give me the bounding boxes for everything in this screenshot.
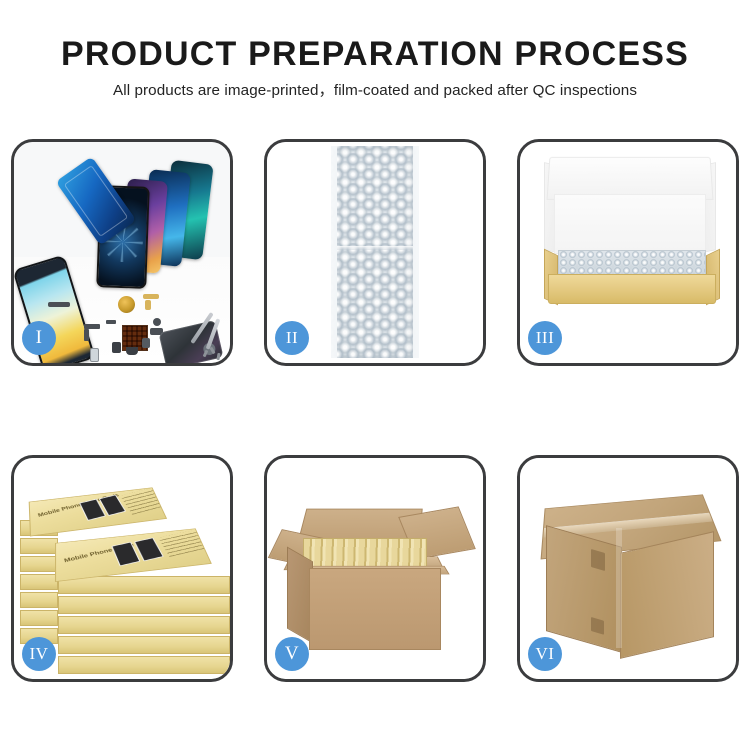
page-subtitle: All products are image-printed，film-coat… <box>0 81 750 101</box>
retail-box-edge <box>58 596 230 614</box>
retail-box-lid-back: Mobile Phone Spare Parts <box>29 487 167 536</box>
retail-box-edge <box>20 556 58 572</box>
carton-notch <box>591 617 604 635</box>
spare-part-bracket-arm-icon <box>84 329 89 341</box>
step-badge-2: II <box>275 321 309 355</box>
spare-part-connector-icon <box>90 348 99 362</box>
retail-box-edge <box>20 538 58 554</box>
retail-box-edge <box>58 616 230 634</box>
carton-notch <box>591 549 605 571</box>
product-preparation-infographic: PRODUCT PREPARATION PROCESS All products… <box>0 0 750 750</box>
step-badge-5: V <box>275 637 309 671</box>
process-step-panel-3[interactable]: III <box>517 139 739 366</box>
box-lid-panel <box>554 194 706 254</box>
retail-box-edge <box>58 636 230 654</box>
process-step-panel-5[interactable]: V <box>264 455 486 682</box>
spare-part-strip-icon <box>48 302 70 307</box>
retail-box-edge <box>58 576 230 594</box>
spare-part-button-icon <box>112 342 121 353</box>
process-step-panel-4[interactable]: Mobile Phone Spare Parts Mobile Phone Sp… <box>11 455 233 682</box>
retail-box-lid-front: Mobile Phone Spare Parts <box>55 528 212 582</box>
retail-box-spec-lines <box>120 487 167 514</box>
spare-part-coil-icon <box>118 296 135 313</box>
process-step-panel-6[interactable]: VI <box>517 455 739 682</box>
process-steps-grid: I II III <box>11 139 739 684</box>
sealed-carton-left-face <box>546 525 622 653</box>
spare-part-clip-icon <box>106 320 116 324</box>
step-badge-1: I <box>22 321 56 355</box>
process-step-panel-2[interactable]: II <box>264 139 486 366</box>
carton-front-face <box>309 568 441 650</box>
retail-box-edge <box>20 610 58 626</box>
sealed-carton-right-face <box>620 531 714 659</box>
header: PRODUCT PREPARATION PROCESS All products… <box>0 34 750 101</box>
spare-part-vibrator-icon <box>126 347 138 355</box>
spare-part-motor-icon <box>142 338 150 348</box>
spare-part-speaker-icon <box>153 318 161 326</box>
retail-box-edge <box>20 574 58 590</box>
bubble-wrap-highlight <box>323 142 427 362</box>
spare-part-flex-tail-icon <box>145 300 151 310</box>
step-badge-3: III <box>528 321 562 355</box>
retail-box-edge <box>58 656 230 674</box>
box-tray-front <box>548 274 716 304</box>
step-badge-6: VI <box>528 637 562 671</box>
page-title: PRODUCT PREPARATION PROCESS <box>0 34 750 74</box>
retail-box-edge <box>20 592 58 608</box>
retail-box-spec-lines <box>158 529 211 557</box>
process-step-panel-1[interactable]: I <box>11 139 233 366</box>
spare-part-flex-cable-icon <box>143 294 159 299</box>
step-badge-4: IV <box>22 637 56 671</box>
carton-vertical-edge <box>616 528 622 648</box>
